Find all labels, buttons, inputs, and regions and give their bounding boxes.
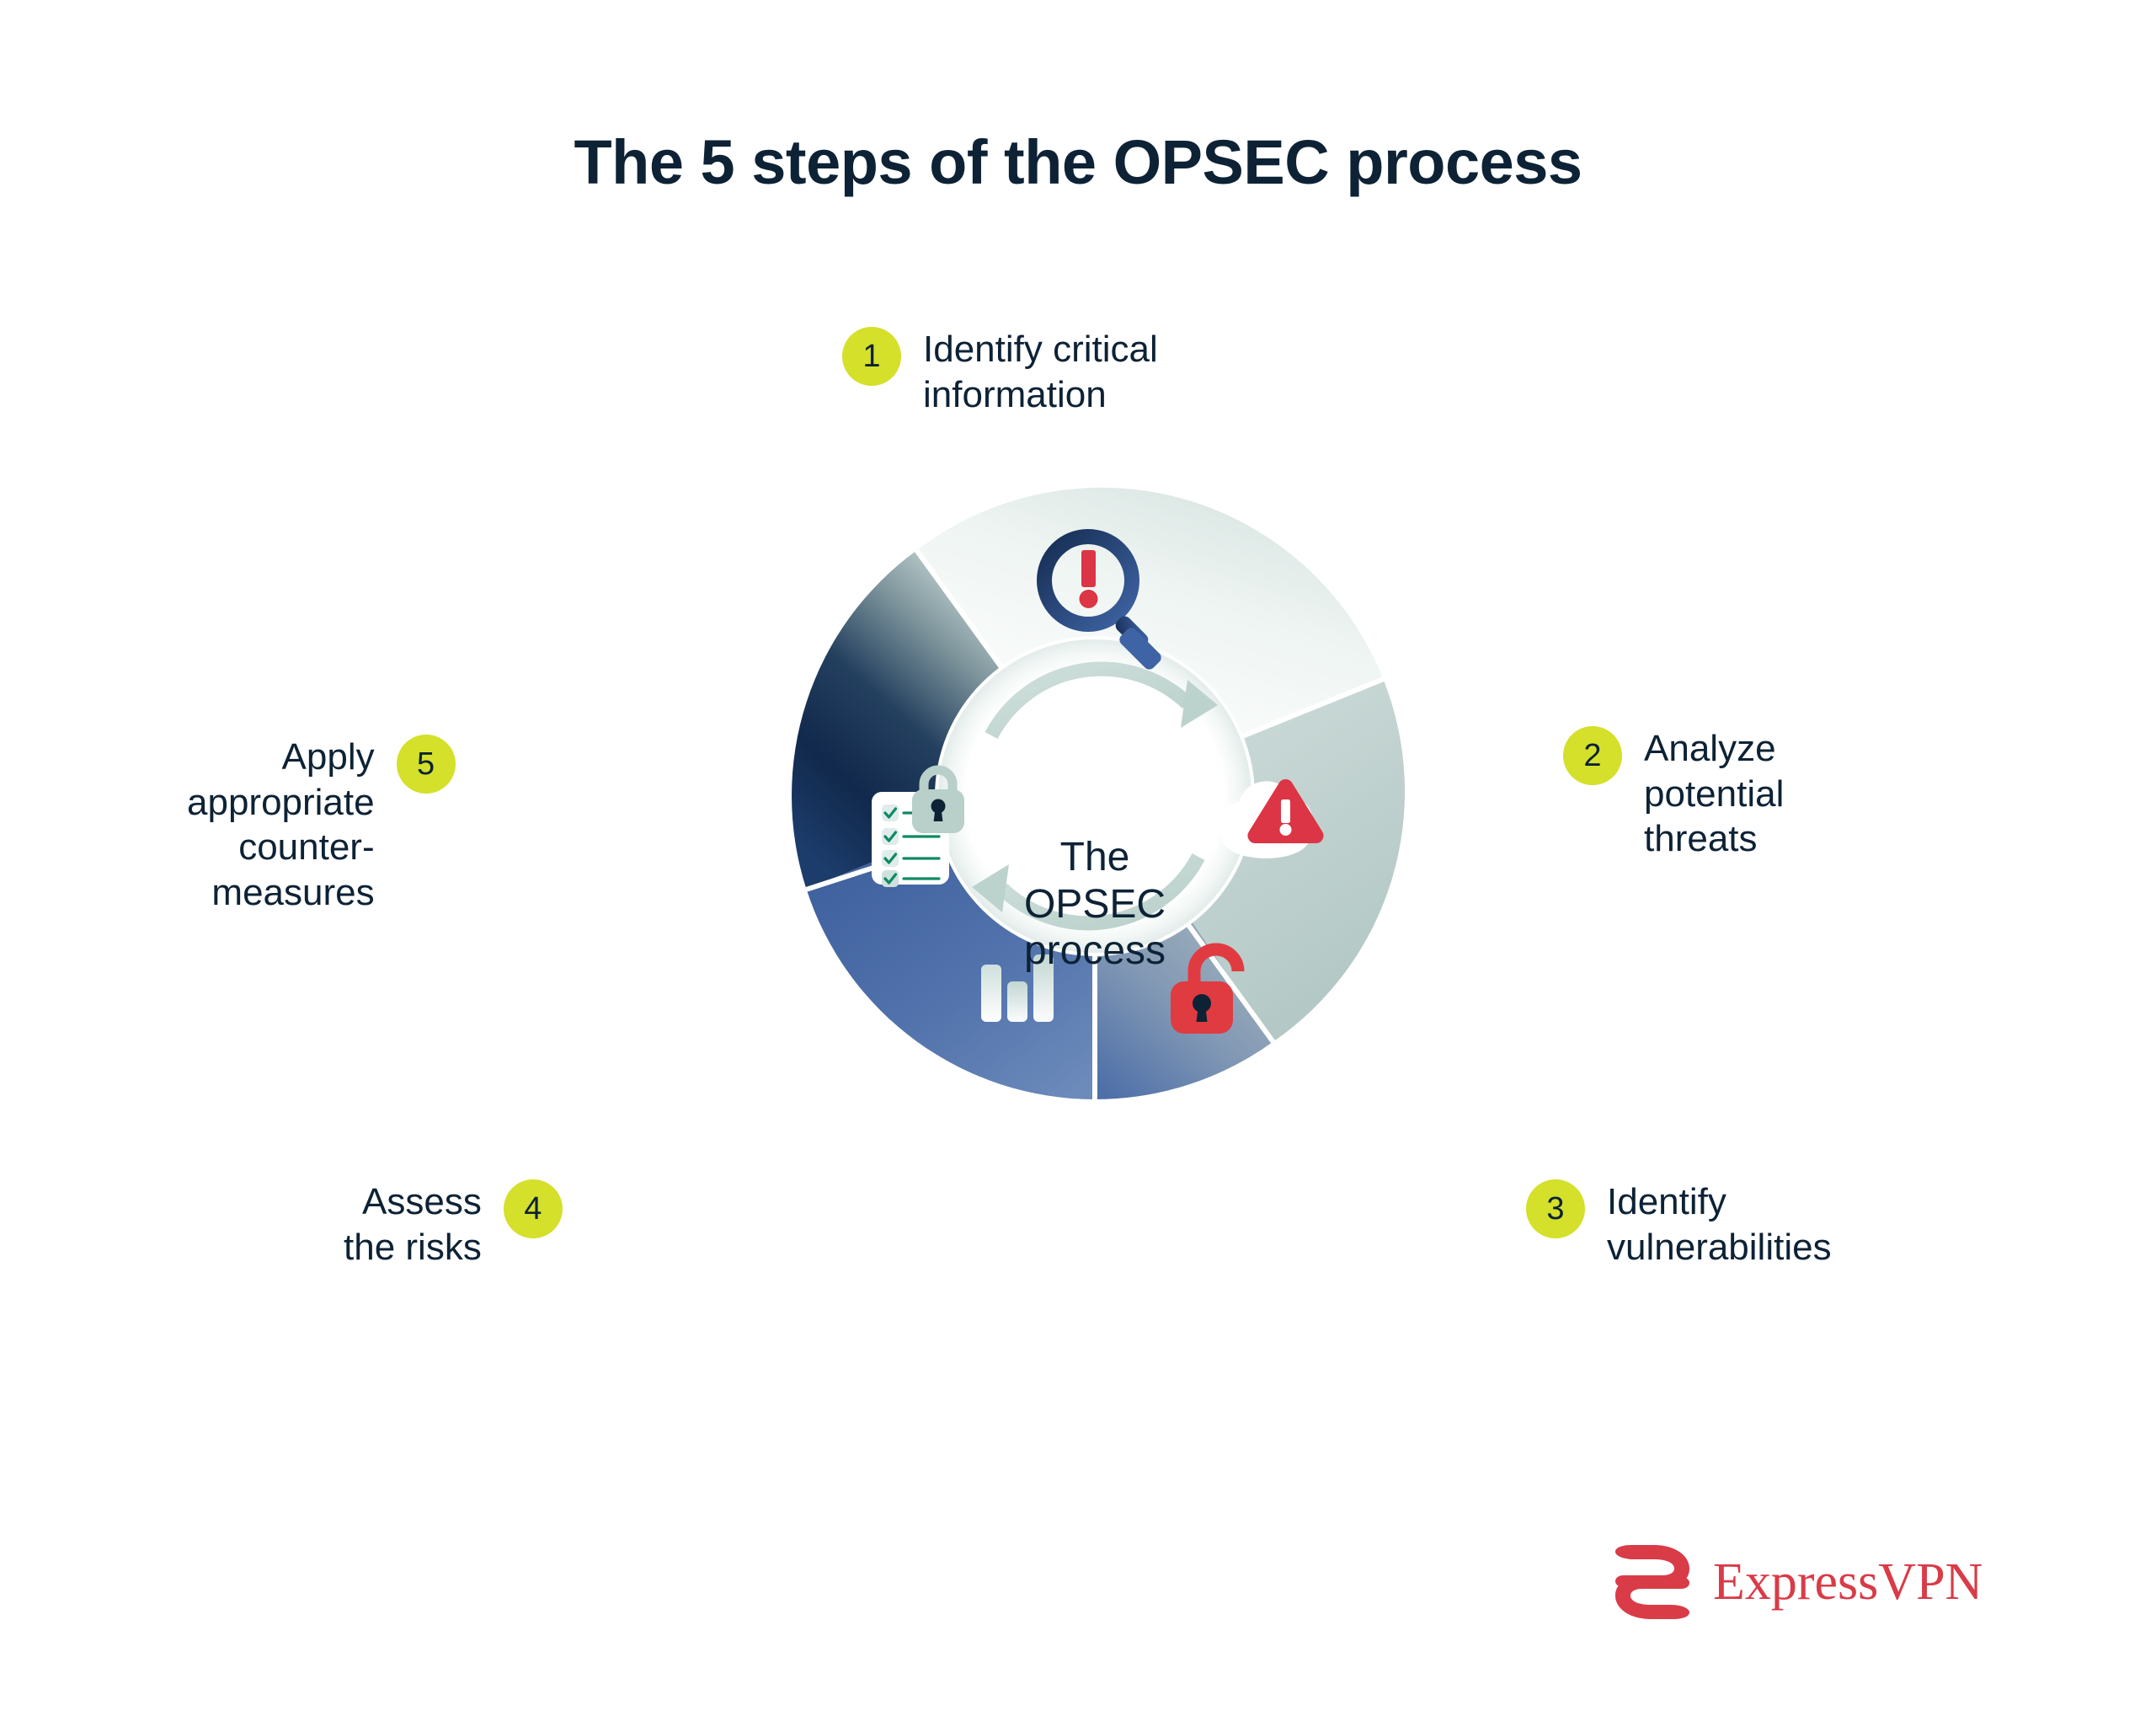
step-label-1: Identify critical information xyxy=(923,327,1158,417)
step-badge-4: 4 xyxy=(504,1179,563,1238)
step-label-5: Apply appropriate counter- measures xyxy=(187,735,375,916)
step-badge-3: 3 xyxy=(1526,1179,1585,1238)
expressvpn-wordmark: ExpressVPN xyxy=(1713,1556,1983,1608)
step-callout-1[interactable]: 1 Identify critical information xyxy=(842,327,1158,417)
expressvpn-logo[interactable]: ExpressVPN xyxy=(1610,1543,1983,1621)
step-badge-2: 2 xyxy=(1563,726,1622,785)
step-callout-2[interactable]: 2 Analyze potential threats xyxy=(1563,726,1784,862)
inner-disc-ring xyxy=(938,639,1251,953)
opsec-process-wheel xyxy=(792,493,1398,1099)
step-callout-3[interactable]: 3 Identify vulnerabilities xyxy=(1526,1179,1832,1270)
step-label-4: Assess the risks xyxy=(344,1179,482,1270)
step-badge-5: 5 xyxy=(397,735,456,794)
step-callout-4[interactable]: Assess the risks 4 xyxy=(344,1179,563,1270)
step-label-2: Analyze potential threats xyxy=(1644,726,1784,862)
expressvpn-logo-icon xyxy=(1610,1543,1694,1621)
step-callout-5[interactable]: Apply appropriate counter- measures 5 xyxy=(187,735,456,916)
step-label-3: Identify vulnerabilities xyxy=(1607,1179,1832,1270)
step-badge-1: 1 xyxy=(842,327,901,386)
page-title: The 5 steps of the OPSEC process xyxy=(0,126,2156,198)
